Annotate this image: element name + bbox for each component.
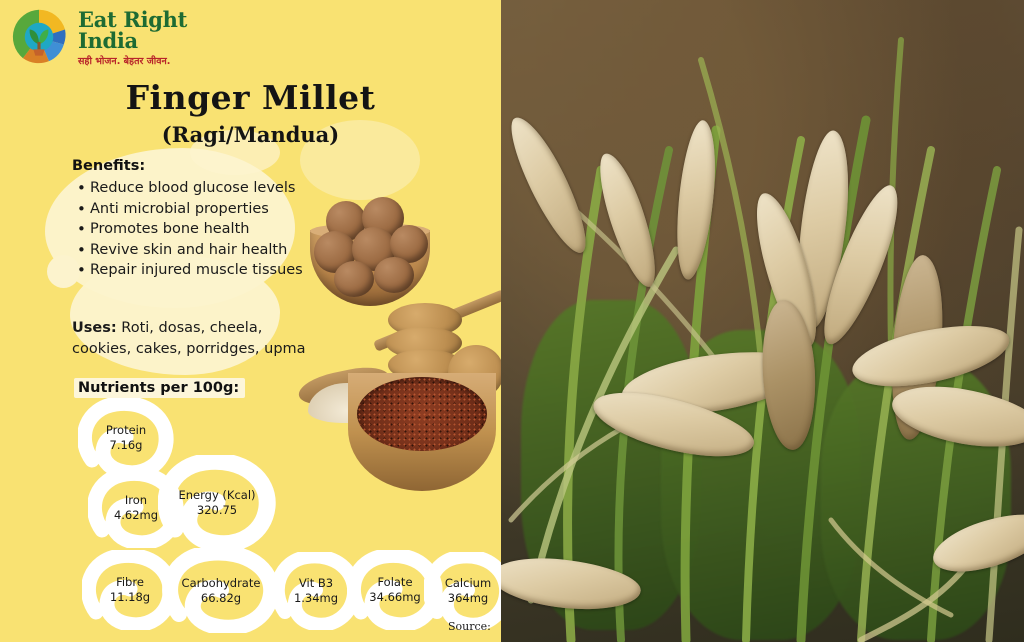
page-subtitle: (Ragi/Mandua) (0, 122, 501, 147)
nutrient-name: Iron (125, 493, 147, 508)
nutrient-bubble-energy: Energy (Kcal) 320.75 (158, 455, 276, 550)
nutrient-name: Vit B3 (299, 576, 333, 591)
finger-millet-crop-photo (501, 0, 1024, 642)
page-title: Finger Millet (0, 78, 501, 117)
infographic-poster: Eat Right India सही भोजन. बेहतर जीवन. Fi… (0, 0, 1024, 642)
nutrient-value: 34.66mg (369, 590, 420, 605)
left-content-panel: Eat Right India सही भोजन. बेहतर जीवन. Fi… (0, 0, 501, 642)
list-item: Anti microbial properties (90, 199, 303, 220)
ragi-grain-texture (357, 377, 487, 451)
nutrient-name: Protein (106, 423, 146, 438)
page-title-block: Finger Millet (Ragi/Mandua) (0, 78, 501, 147)
nutrient-name: Carbohydrate (182, 576, 261, 591)
uses-text: Uses: Roti, dosas, cheela, cookies, cake… (72, 318, 322, 360)
nutrient-value: 11.18g (110, 590, 150, 605)
uses-label: Uses: (72, 320, 117, 336)
food-photo (300, 195, 501, 495)
ladoo (334, 261, 374, 297)
benefits-heading: Benefits: (72, 158, 303, 174)
list-item: Repair injured muscle tissues (90, 260, 303, 281)
nutrient-value: 1.34mg (294, 591, 338, 606)
nutrient-name: Calcium (445, 576, 491, 591)
source-label: Source: (448, 620, 491, 633)
nutrient-name: Fibre (116, 575, 144, 590)
benefits-list: Reduce blood glucose levels Anti microbi… (72, 178, 303, 281)
nutrient-bubble-carbohydrate: Carbohydrate 66.82g (162, 548, 280, 633)
nutrients-heading: Nutrients per 100g: (74, 378, 245, 398)
nutrient-value: 4.62mg (114, 508, 158, 523)
nutrient-value: 320.75 (197, 503, 237, 518)
uses-section: Uses: Roti, dosas, cheela, cookies, cake… (72, 318, 322, 360)
ladoo (374, 257, 414, 293)
list-item: Promotes bone health (90, 219, 303, 240)
nutrient-name: Folate (377, 575, 412, 590)
list-item: Revive skin and hair health (90, 240, 303, 261)
nutrient-value: 66.82g (201, 591, 241, 606)
benefits-section: Benefits: Reduce blood glucose levels An… (72, 158, 303, 281)
nutrient-value: 364mg (448, 591, 488, 606)
nutrient-name: Energy (Kcal) (179, 488, 256, 503)
ragi-grain-bowl (348, 373, 496, 491)
nutrient-value: 7.16g (110, 438, 143, 453)
list-item: Reduce blood glucose levels (90, 178, 303, 199)
nutrient-bubble-calcium: Calcium 364mg (424, 552, 501, 630)
